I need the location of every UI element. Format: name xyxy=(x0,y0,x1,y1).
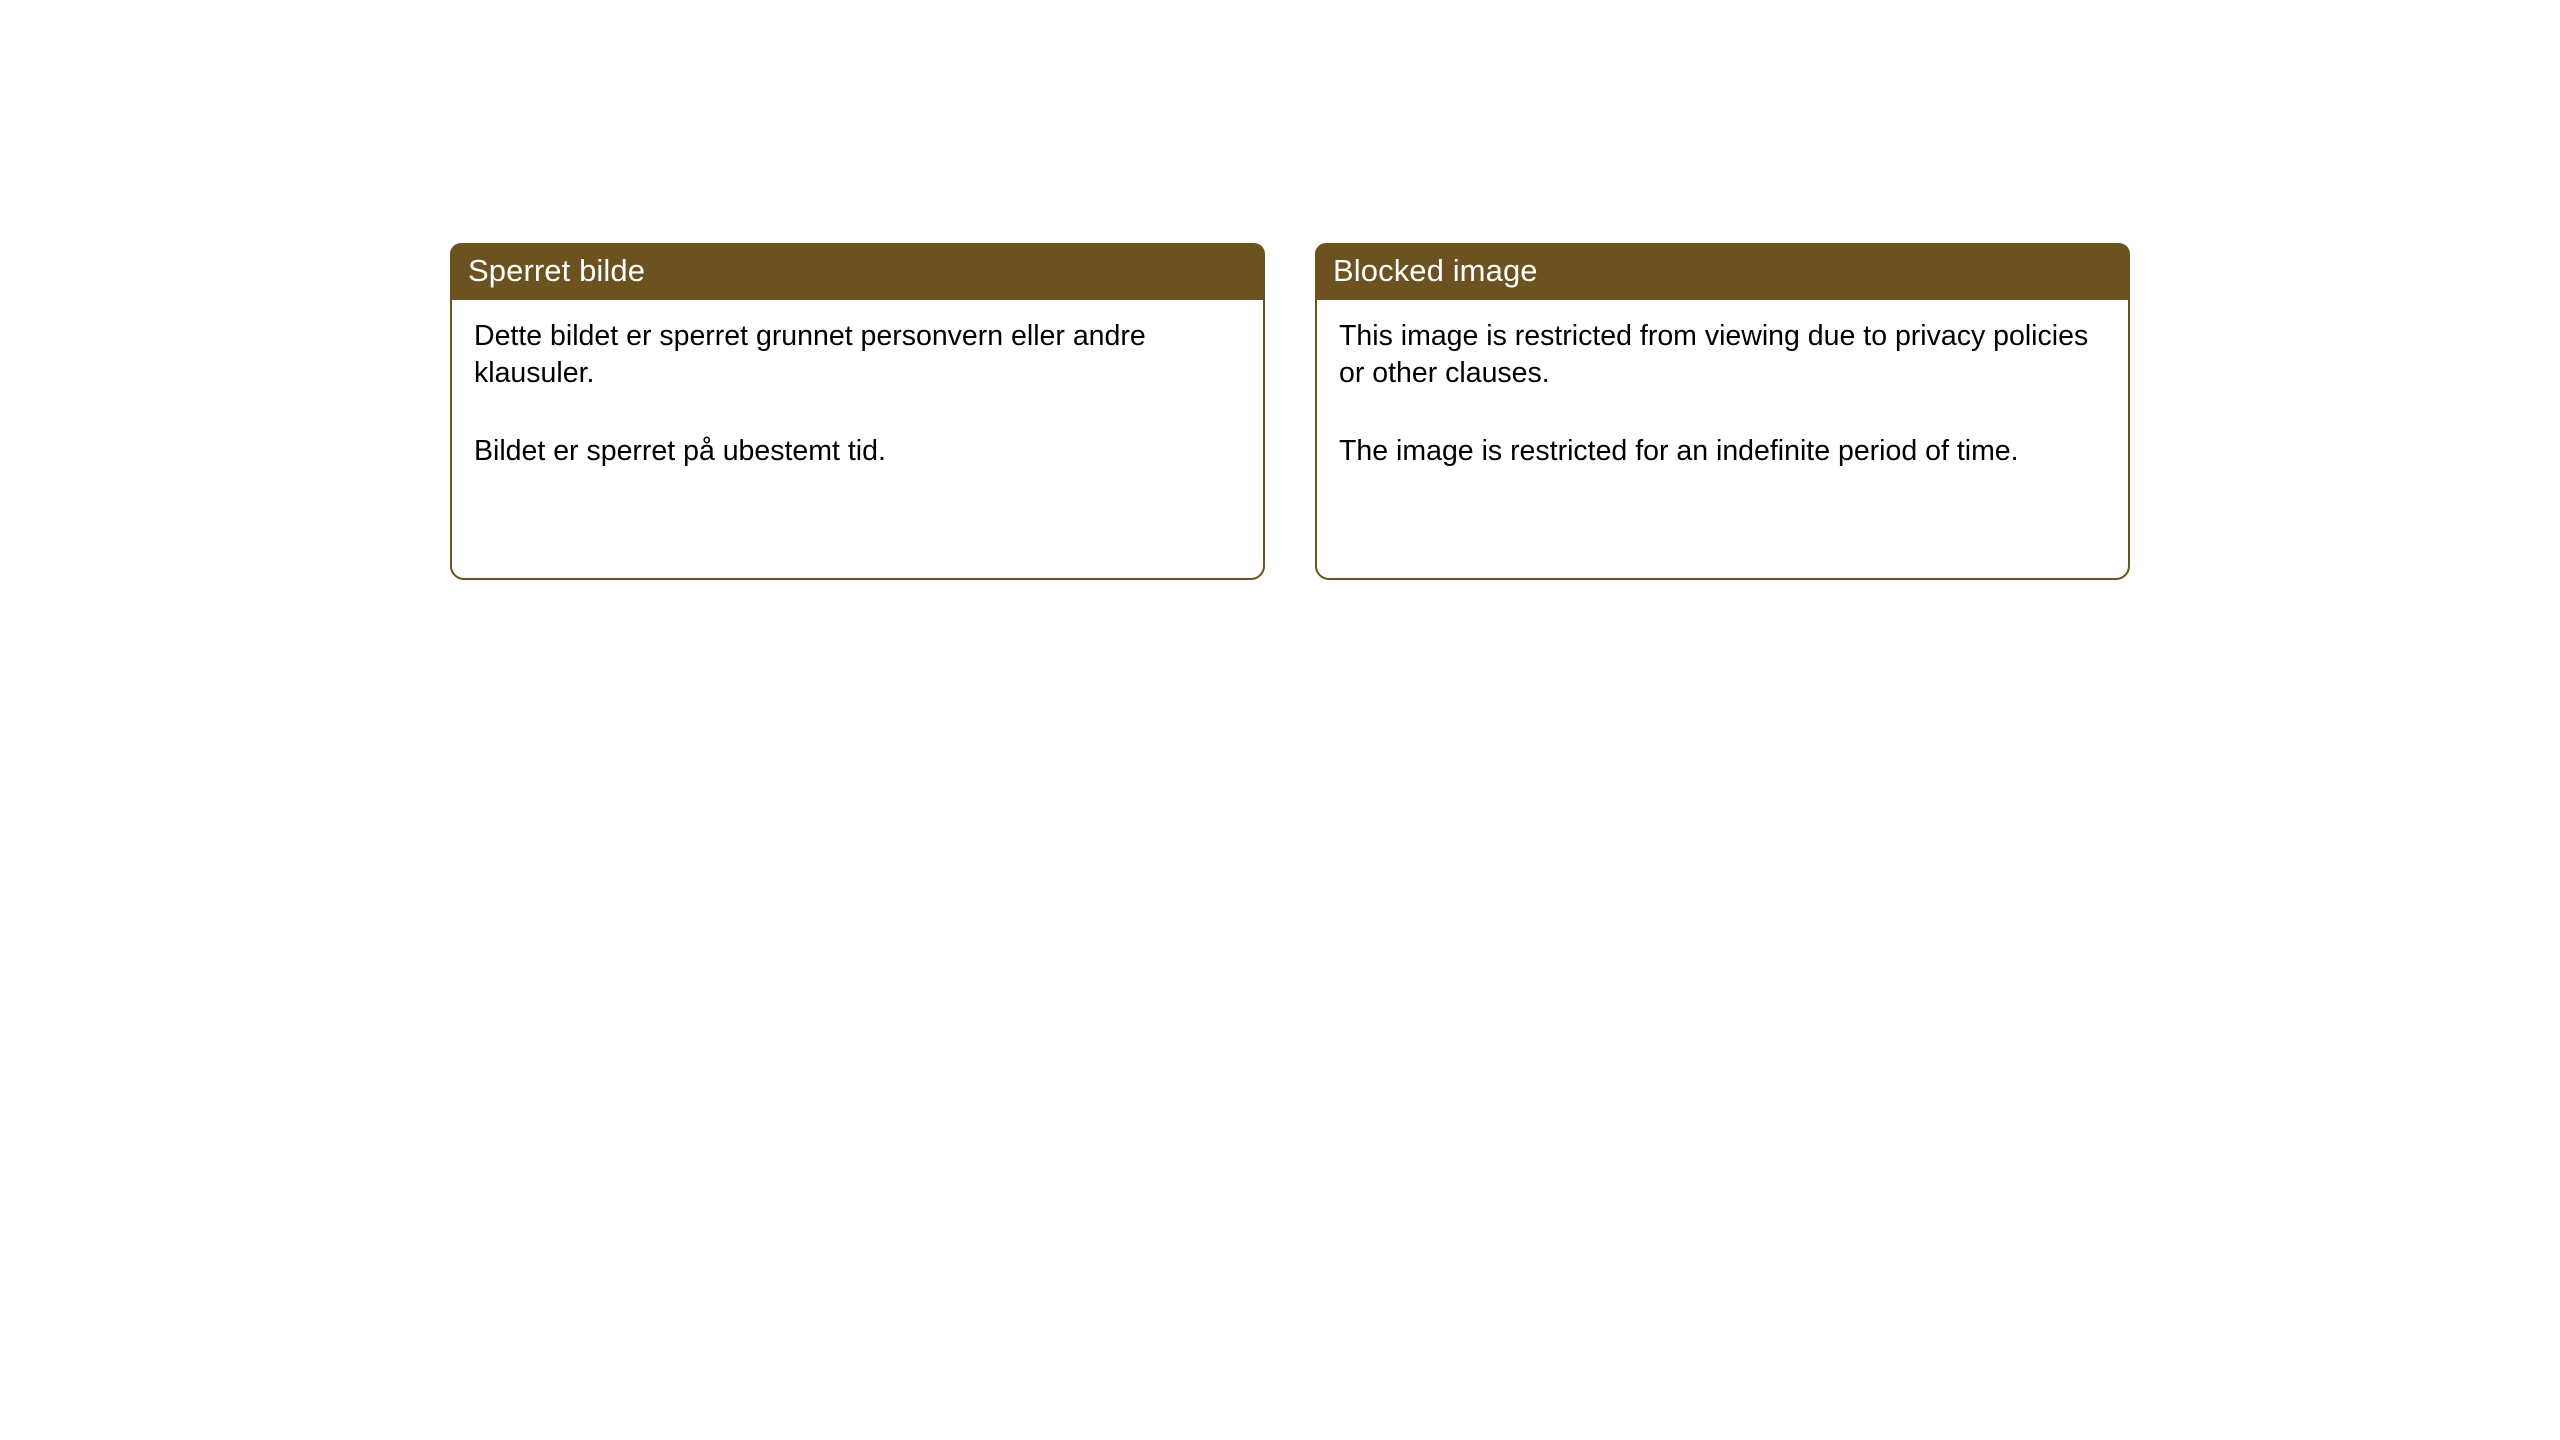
card-header-en: Blocked image xyxy=(1315,243,2130,300)
card-paragraph-en-2: The image is restricted for an indefinit… xyxy=(1339,433,2108,470)
card-title-en: Blocked image xyxy=(1333,253,1538,289)
card-header-no: Sperret bilde xyxy=(450,243,1265,300)
card-paragraph-no-1: Dette bildet er sperret grunnet personve… xyxy=(474,318,1243,393)
card-title-no: Sperret bilde xyxy=(468,253,645,289)
card-paragraph-en-1: This image is restricted from viewing du… xyxy=(1339,318,2108,393)
blocked-image-card-no: Sperret bilde Dette bildet er sperret gr… xyxy=(450,243,1265,580)
page-canvas: Sperret bilde Dette bildet er sperret gr… xyxy=(0,0,2560,1440)
card-paragraph-no-2: Bildet er sperret på ubestemt tid. xyxy=(474,433,1243,470)
blocked-image-card-en: Blocked image This image is restricted f… xyxy=(1315,243,2130,580)
blocked-image-notice-group: Sperret bilde Dette bildet er sperret gr… xyxy=(450,243,2130,580)
card-body-en: This image is restricted from viewing du… xyxy=(1317,300,2128,578)
card-body-no: Dette bildet er sperret grunnet personve… xyxy=(452,300,1263,578)
